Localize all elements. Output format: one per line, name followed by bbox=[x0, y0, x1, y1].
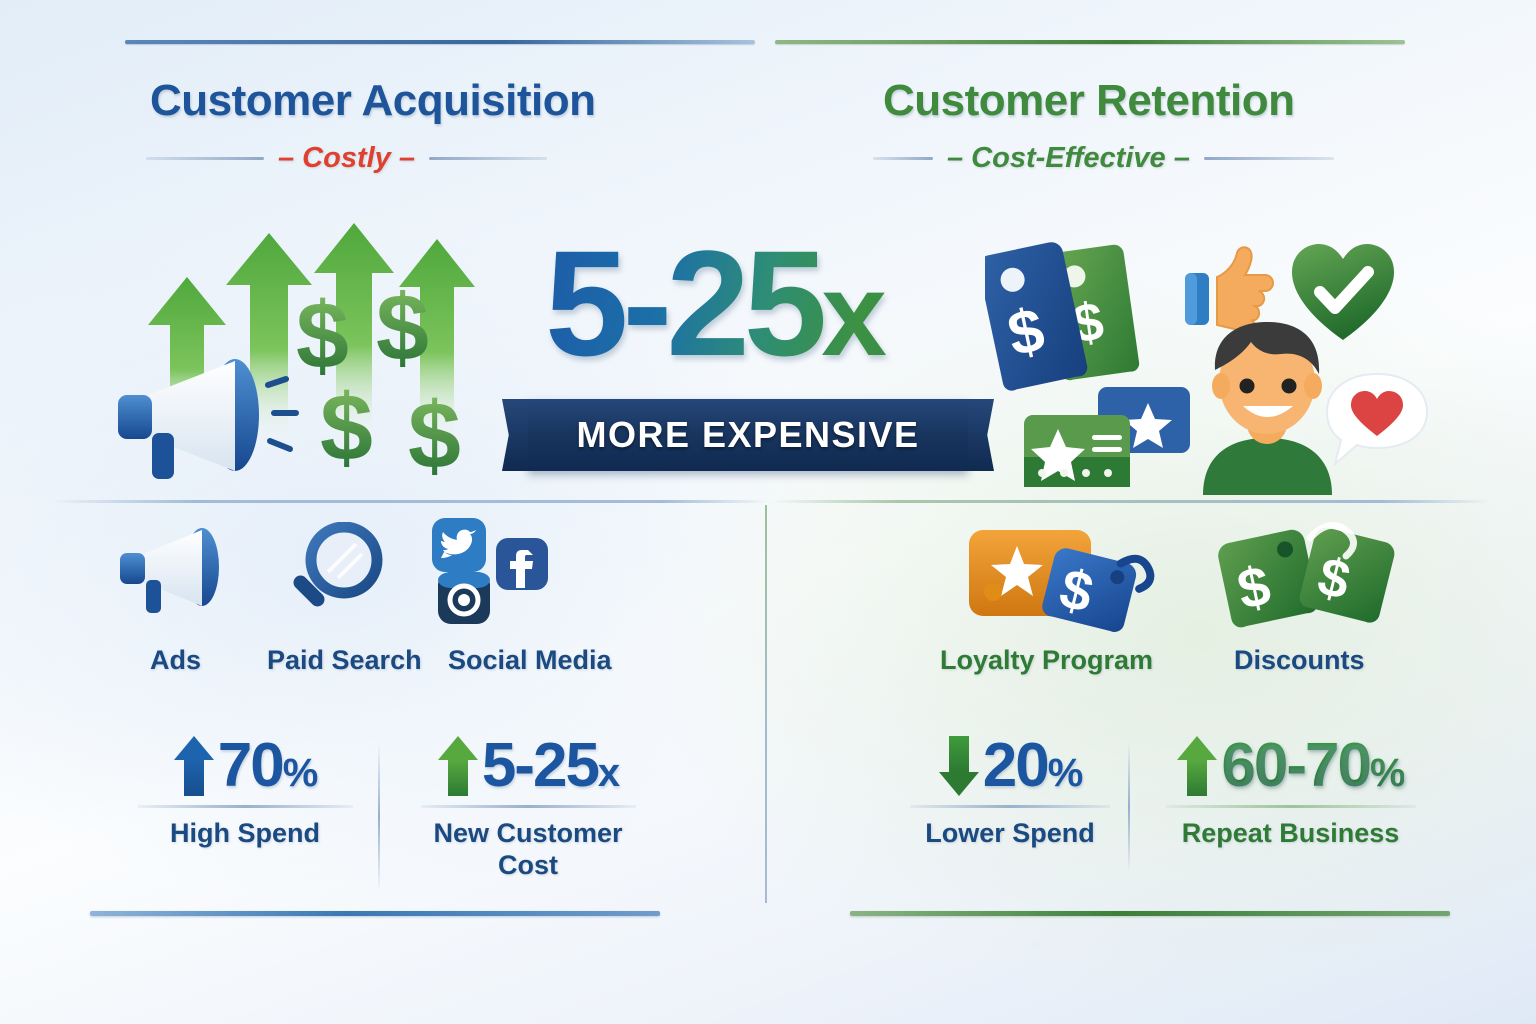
magnifier-icon bbox=[282, 522, 392, 622]
acquisition-title: Customer Acquisition bbox=[150, 76, 596, 126]
subtitle-line-left bbox=[873, 157, 933, 160]
stat-rule bbox=[138, 805, 353, 808]
stat-unit: % bbox=[283, 751, 317, 795]
banner-label: MORE EXPENSIVE bbox=[576, 414, 919, 456]
megaphone-icon bbox=[100, 355, 320, 490]
stat-number: 60-70 bbox=[1221, 731, 1370, 800]
stat-lower-spend: 20% Lower Spend bbox=[905, 735, 1115, 850]
subtitle-line-right bbox=[1204, 157, 1334, 160]
stat-repeat-business: 60-70% Repeat Business bbox=[1148, 735, 1433, 850]
multiplier-value: 5-25x bbox=[545, 228, 965, 378]
stat-value-row: 5-25x bbox=[398, 735, 658, 797]
multiplier-suffix: x bbox=[821, 249, 881, 381]
stat-value-row: 20% bbox=[905, 735, 1115, 797]
channel-label-social-media: Social Media bbox=[448, 645, 612, 676]
retention-heading-block: Customer Retention – Cost-Effective – bbox=[883, 76, 1334, 175]
stat-value-row: 60-70% bbox=[1148, 735, 1433, 797]
megaphone-icon bbox=[110, 525, 258, 620]
multiplier-number: 5-25 bbox=[545, 219, 821, 387]
infographic-canvas: Customer Acquisition – Costly – Customer… bbox=[0, 0, 1536, 1024]
acquisition-heading-block: Customer Acquisition – Costly – bbox=[150, 76, 596, 175]
stat-separator-right bbox=[1128, 742, 1130, 872]
stat-unit: % bbox=[1048, 751, 1082, 795]
stat-label: New Customer Cost bbox=[426, 818, 631, 882]
mid-divider-right bbox=[770, 500, 1490, 503]
stat-rule bbox=[421, 805, 636, 808]
down-arrow-icon bbox=[939, 736, 979, 796]
stat-value: 60-70% bbox=[1221, 735, 1403, 797]
channel-label-discounts: Discounts bbox=[1234, 645, 1365, 676]
stat-label: Repeat Business bbox=[1148, 818, 1433, 850]
up-arrow-icon bbox=[438, 736, 478, 796]
stat-value: 70% bbox=[218, 735, 317, 797]
stat-value: 20% bbox=[983, 735, 1082, 797]
more-expensive-banner: MORE EXPENSIVE bbox=[528, 399, 968, 471]
up-arrow-icon bbox=[1177, 736, 1217, 796]
bottom-rule-right bbox=[850, 911, 1450, 916]
loyalty-card-icon bbox=[1018, 385, 1198, 495]
stat-number: 20 bbox=[983, 731, 1048, 800]
stat-number: 5-25 bbox=[482, 731, 598, 800]
retention-subtitle: – Cost-Effective – bbox=[947, 142, 1190, 175]
mid-divider-left bbox=[50, 500, 770, 503]
vertical-center-divider bbox=[765, 505, 767, 903]
speech-bubble-heart-icon bbox=[1325, 372, 1430, 472]
channel-label-ads: Ads bbox=[150, 645, 201, 676]
discount-tags-icon: $ $ bbox=[1215, 518, 1405, 636]
loyalty-card-icon: $ bbox=[965, 522, 1175, 632]
stat-unit: x bbox=[598, 751, 618, 795]
stat-label: High Spend bbox=[120, 818, 370, 850]
stat-number: 70 bbox=[218, 731, 283, 800]
top-rule-left bbox=[125, 40, 755, 44]
up-arrow-icon bbox=[174, 736, 214, 796]
stat-high-spend: 70% High Spend bbox=[120, 735, 370, 850]
stat-rule bbox=[910, 805, 1110, 808]
social-media-icons bbox=[420, 516, 555, 628]
acquisition-subtitle: – Costly – bbox=[278, 142, 415, 175]
svg-text:$: $ bbox=[376, 290, 429, 381]
retention-title: Customer Retention bbox=[883, 76, 1334, 126]
dollar-sign-icon-group: $ $ $ $ bbox=[290, 290, 520, 490]
stat-rule bbox=[1166, 805, 1416, 808]
channel-label-paid-search: Paid Search bbox=[267, 645, 422, 676]
stat-value-row: 70% bbox=[120, 735, 370, 797]
headline-block: 5-25x bbox=[545, 228, 965, 378]
top-rule-right bbox=[775, 40, 1405, 44]
acquisition-subtitle-row: – Costly – bbox=[146, 142, 596, 175]
stat-value: 5-25x bbox=[482, 735, 618, 797]
svg-text:$: $ bbox=[320, 375, 373, 481]
stat-label: Lower Spend bbox=[905, 818, 1115, 850]
stat-new-customer-cost: 5-25x New Customer Cost bbox=[398, 735, 658, 882]
stat-unit: % bbox=[1370, 751, 1404, 795]
stat-separator-left bbox=[378, 742, 380, 892]
retention-subtitle-row: – Cost-Effective – bbox=[873, 142, 1334, 175]
channel-label-loyalty-program: Loyalty Program bbox=[940, 645, 1153, 676]
subtitle-line-left bbox=[146, 157, 264, 160]
svg-text:$: $ bbox=[408, 383, 461, 489]
bottom-rule-left bbox=[90, 911, 660, 916]
subtitle-line-right bbox=[429, 157, 547, 160]
